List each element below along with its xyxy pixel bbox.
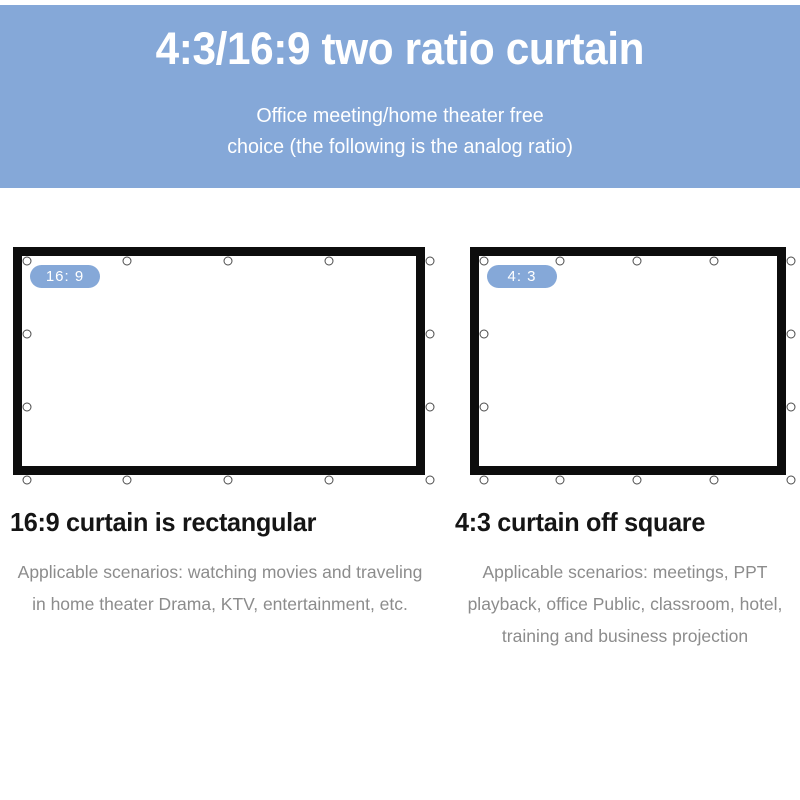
grommet-icon-4-3-bottom-3 [709,475,718,484]
grommet-icon-4-3-left-1 [479,329,488,338]
caption-heading-16-9: 16:9 curtain is rectangular [10,505,437,539]
projection-surface-16-9: 16: 9 [22,256,416,466]
grommet-icon-4-3-bottom-2 [633,475,642,484]
grommet-icon-16-9-bottom-0 [22,475,31,484]
screen-diagram-4-3: 4: 3 [470,247,786,475]
grommet-icon-16-9-bottom-1 [123,475,132,484]
screen-diagrams: 16: 9 4: 3 [0,247,800,477]
caption-body-4-3: Applicable scenarios: meetings, PPT play… [455,556,795,652]
grommet-icon-16-9-bottom-2 [224,475,233,484]
grommet-icon-4-3-bottom-4 [786,475,795,484]
grommet-icon-4-3-right-1 [786,329,795,338]
grommet-icon-4-3-top-2 [633,256,642,265]
page-subtitle: Office meeting/home theater free choice … [227,100,573,162]
caption-heading-4-3: 4:3 curtain off square [455,505,785,539]
caption-body-16-9: Applicable scenarios: watching movies an… [10,556,430,620]
ratio-badge-4-3: 4: 3 [487,265,557,288]
ratio-badge-16-9: 16: 9 [30,265,100,288]
grommet-icon-16-9-right-2 [425,402,434,411]
grommet-icon-4-3-top-4 [786,256,795,265]
caption-column-4-3: 4:3 curtain off square Applicable scenar… [455,505,795,652]
grommet-icon-16-9-left-1 [22,329,31,338]
grommet-icon-16-9-left-2 [22,402,31,411]
page-subtitle-line-1: Office meeting/home theater free [227,100,573,131]
grommet-icon-16-9-top-4 [425,256,434,265]
grommet-icon-16-9-top-1 [123,256,132,265]
page-title: 4:3/16:9 two ratio curtain [156,24,645,74]
grommet-icon-4-3-top-3 [709,256,718,265]
grommet-icon-16-9-right-1 [425,329,434,338]
grommet-icon-4-3-top-0 [479,256,488,265]
grommet-icon-16-9-top-3 [324,256,333,265]
grommet-icon-16-9-bottom-3 [324,475,333,484]
grommet-icon-4-3-right-2 [786,402,795,411]
page-subtitle-line-2: choice (the following is the analog rati… [227,131,573,162]
header-banner: 4:3/16:9 two ratio curtain Office meetin… [0,5,800,188]
grommet-icon-4-3-top-1 [556,256,565,265]
grommet-icon-4-3-left-2 [479,402,488,411]
projection-surface-4-3: 4: 3 [479,256,777,466]
grommet-icon-4-3-bottom-1 [556,475,565,484]
grommet-icon-16-9-bottom-4 [425,475,434,484]
grommet-icon-4-3-bottom-0 [479,475,488,484]
grommet-icon-16-9-top-2 [224,256,233,265]
grommet-icon-16-9-top-0 [22,256,31,265]
screen-diagram-16-9: 16: 9 [13,247,425,475]
caption-column-16-9: 16:9 curtain is rectangular Applicable s… [10,505,450,620]
